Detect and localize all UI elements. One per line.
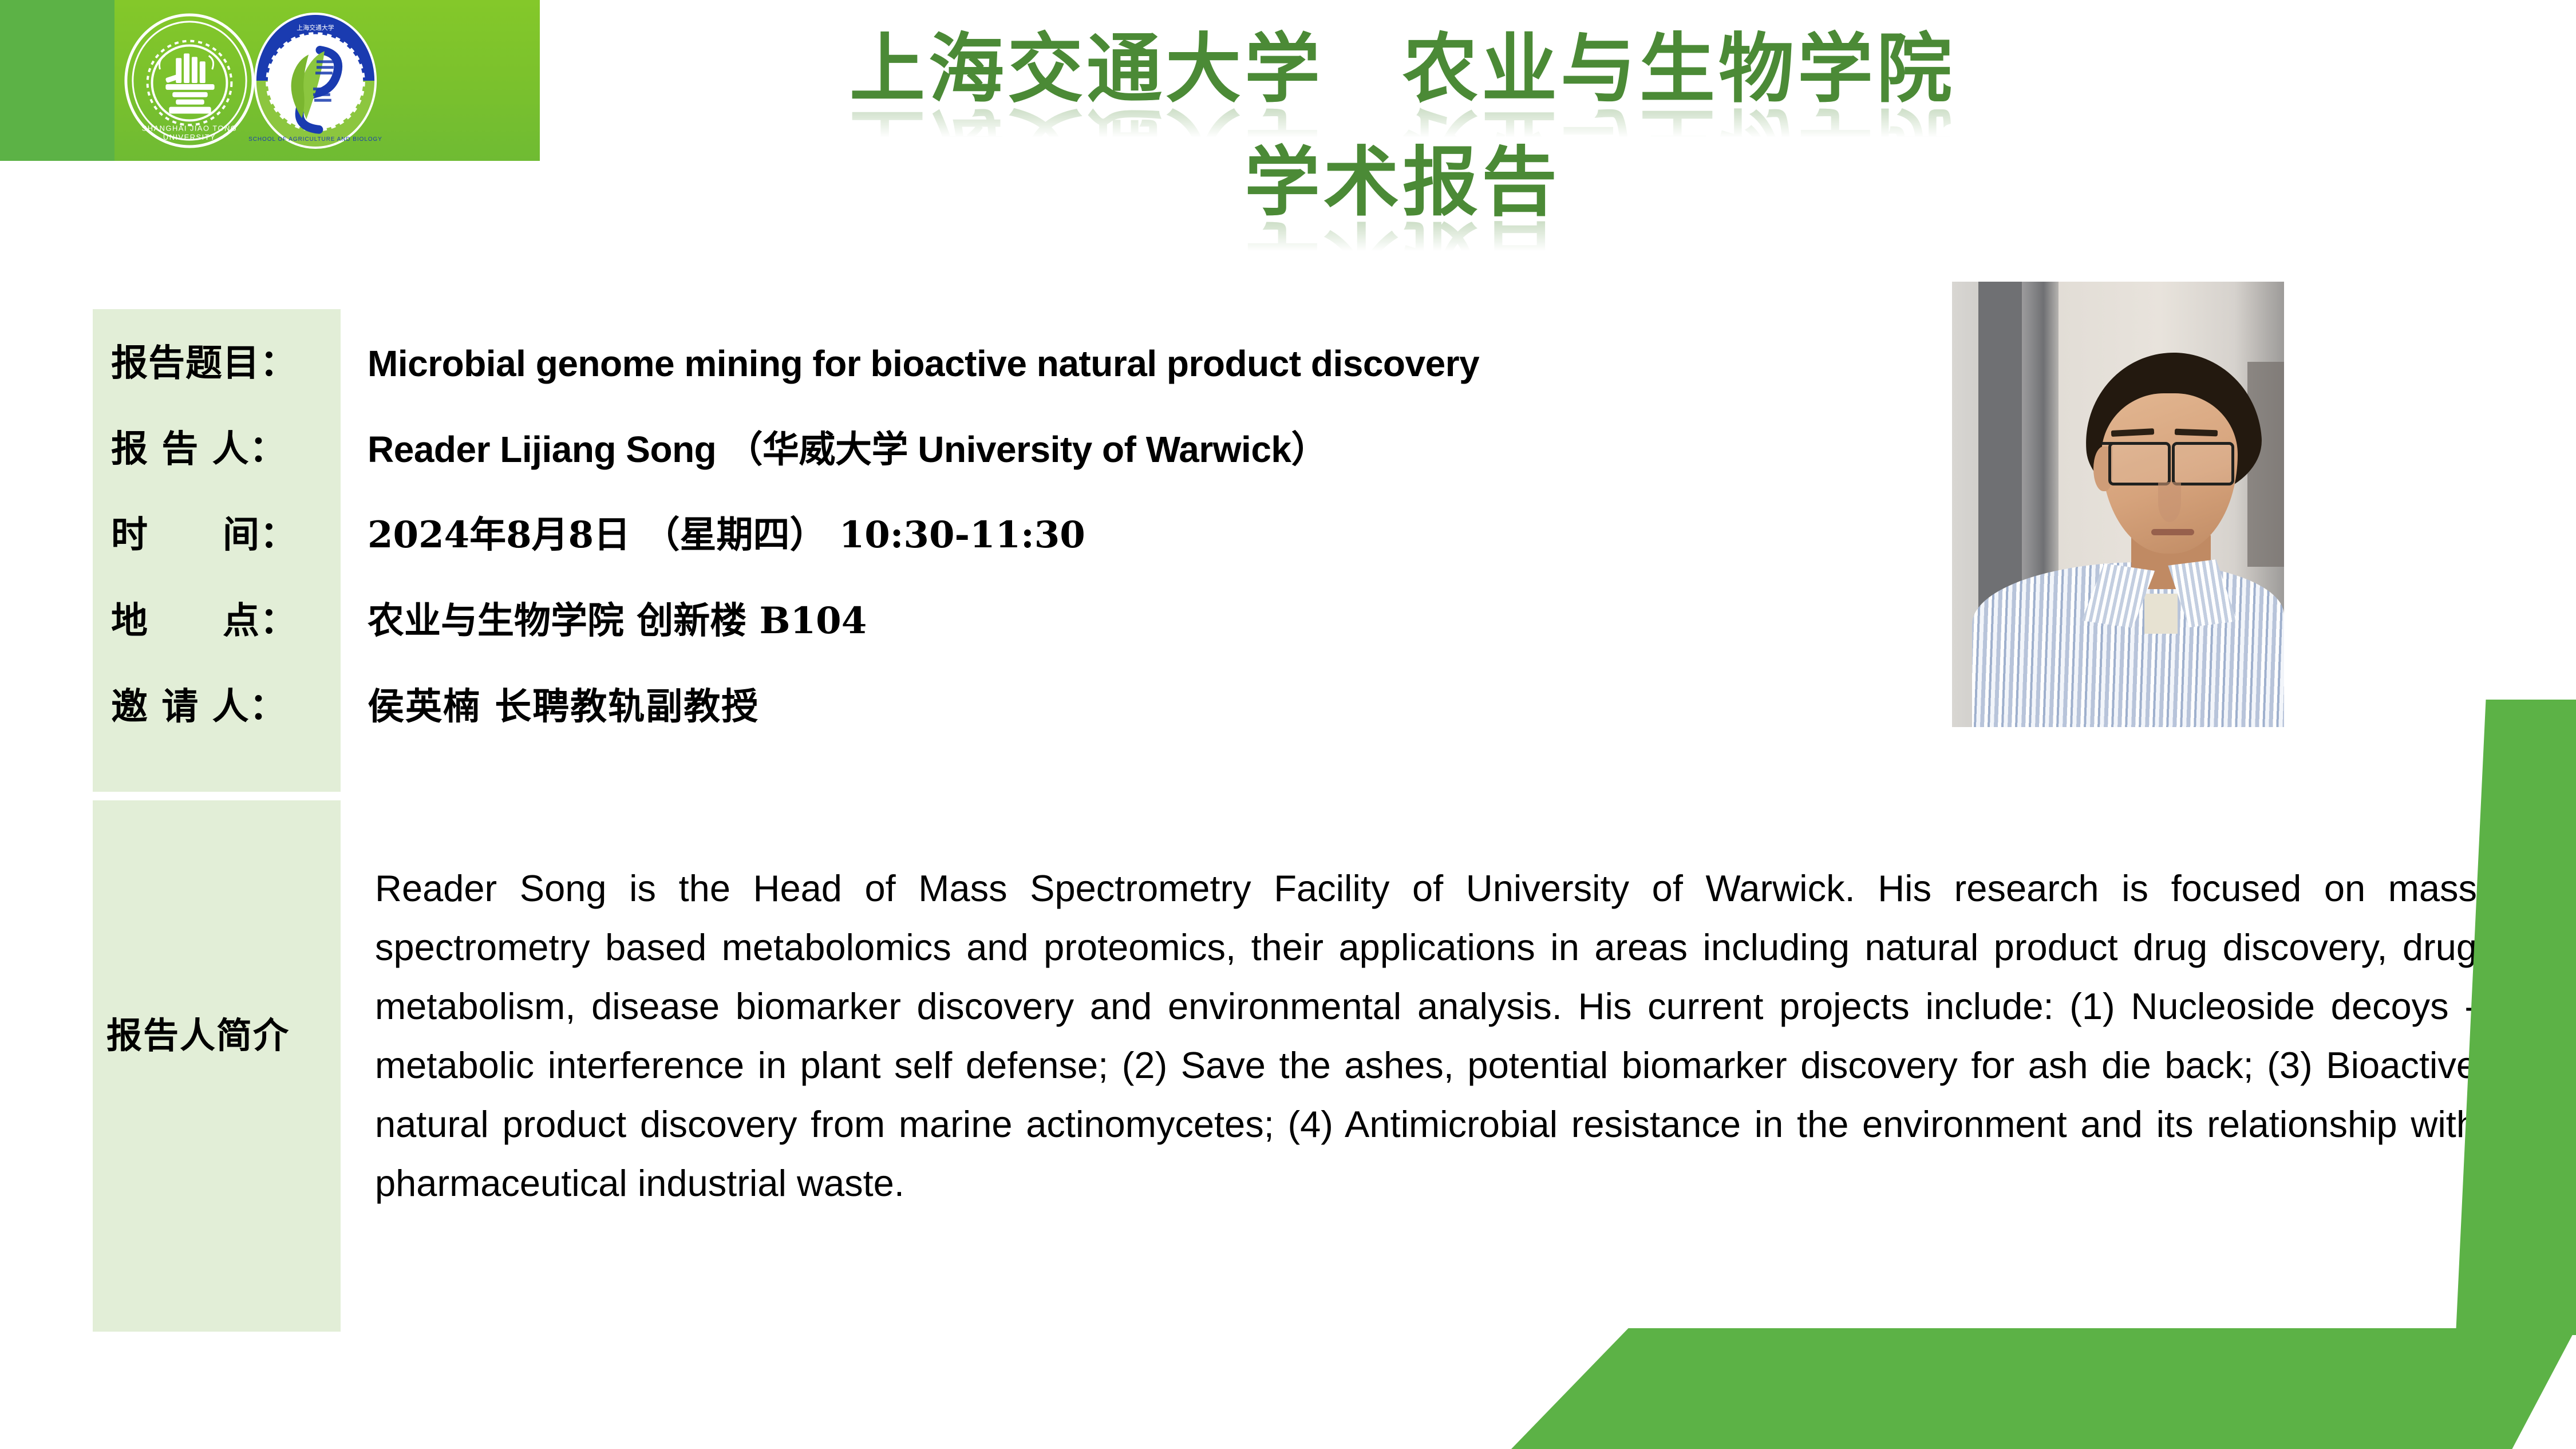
logo-plate: SHANGHAI JIAO TONG UNIVERSITY [114,0,540,161]
title-line-2: 学术报告 [744,145,2061,220]
photo-lens-right [2172,442,2234,485]
info-row-location: 地 点： 农业与生物学院 创新楼 B104 [93,578,1925,664]
speaker-photo [1952,282,2284,727]
photo-glasses-bridge [2101,442,2135,445]
value-time: 2024年8月8日 （星期四） 10:30-11:30 [368,492,1085,578]
photo-undershirt [2144,594,2178,634]
decoration-right-corner [2456,700,2576,1335]
info-row-speaker: 报 告 人： Reader Lijiang Song （华威大学 Univers… [93,406,1925,492]
poster-title: 上海交通大学 农业与生物学院 学术报告 [744,31,2061,220]
photo-lens-left [2108,442,2171,485]
seminar-poster: SHANGHAI JIAO TONG UNIVERSITY [0,0,2576,1449]
svg-text:UNIVERSITY: UNIVERSITY [163,133,216,141]
bio-label: 报告人简介 [106,1006,335,1058]
label-location: 地 点： [111,578,334,664]
decoration-bottom-corner [1511,1328,2576,1449]
label-inviter: 邀 请 人： [111,664,334,750]
svg-text:SCHOOL OF AGRICULTURE AND BIOL: SCHOOL OF AGRICULTURE AND BIOLOGY [248,136,382,143]
info-table: 报告题目： Microbial genome mining for bioact… [93,321,1925,750]
value-location: 农业与生物学院 创新楼 B104 [368,578,867,664]
value-inviter: 侯英楠 长聘教轨副教授 [368,664,759,750]
info-row-inviter: 邀 请 人： 侯英楠 长聘教轨副教授 [93,664,1925,750]
info-row-topic: 报告题目： Microbial genome mining for bioact… [93,321,1925,406]
label-time: 时 间： [111,492,334,578]
bio-text: Reader Song is the Head of Mass Spectrom… [375,859,2477,1213]
value-topic: Microbial genome mining for bioactive na… [368,321,1479,406]
label-speaker: 报 告 人： [111,406,334,492]
glasses-icon [2108,442,2234,480]
photo-nose [2158,482,2182,522]
svg-text:SHANGHAI JIAO TONG: SHANGHAI JIAO TONG [142,124,238,132]
label-topic: 报告题目： [111,321,334,406]
title-line-1: 上海交通大学 农业与生物学院 [744,31,2061,107]
photo-mouth [2151,529,2194,536]
header-green-band: SHANGHAI JIAO TONG UNIVERSITY [0,0,540,161]
bio-label-panel [93,800,341,1332]
sjtu-logo: SHANGHAI JIAO TONG UNIVERSITY [121,13,258,149]
info-row-time: 时 间： 2024年8月8日 （星期四） 10:30-11:30 [93,492,1925,578]
school-agriculture-biology-logo: 上海交通大学 SCHOOL OF AGRICULTURE AND BIOLOGY [247,13,384,149]
value-speaker: Reader Lijiang Song （华威大学 University of … [368,406,1327,492]
svg-text:上海交通大学: 上海交通大学 [297,23,334,31]
